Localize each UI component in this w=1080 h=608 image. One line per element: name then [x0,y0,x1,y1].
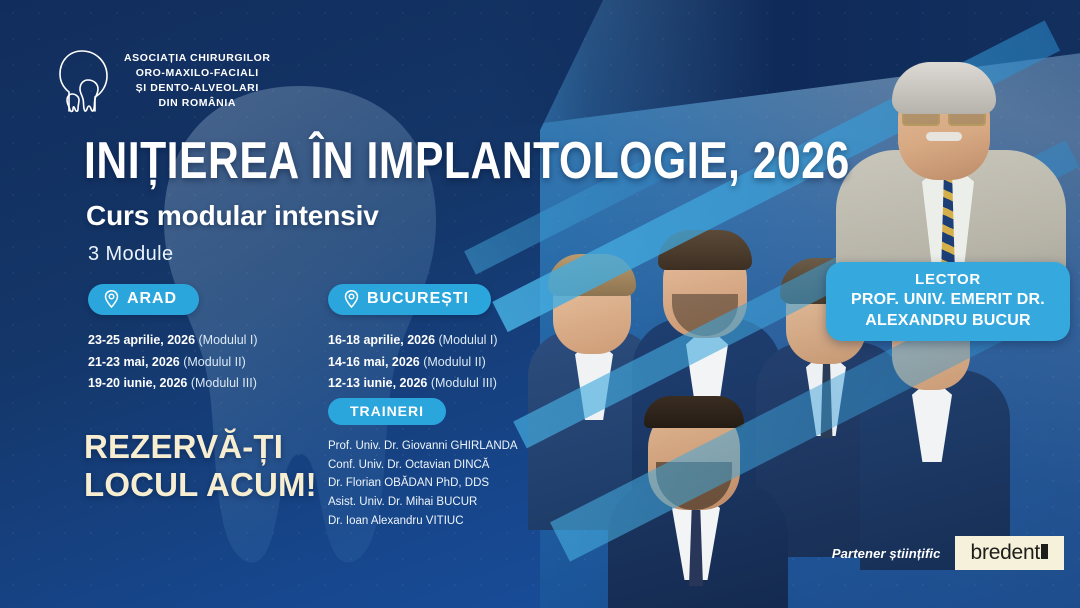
date-range: 14-16 mai, 2026 [328,355,420,369]
date-range: 21-23 mai, 2026 [88,355,180,369]
date-module: (Modulul I) [439,333,498,347]
trainers-list: Prof. Univ. Dr. Giovanni GHIRLANDA Conf.… [328,437,518,530]
date-row: 23-25 aprilie, 2026 (Modulul I) [88,330,258,352]
date-row: 14-16 mai, 2026 (Modulul II) [328,352,498,374]
date-row: 19-20 iunie, 2026 (Modulul III) [88,373,258,395]
date-row: 16-18 aprilie, 2026 (Modulul I) [328,330,498,352]
trainer-name: Conf. Univ. Dr. Octavian DINCĂ [328,456,518,475]
association-name-line: ORO-MAXILO-FACIALI [124,66,271,81]
date-row: 12-13 iunie, 2026 (Modulul III) [328,373,498,395]
location-block-bucuresti: BUCUREȘTI 16-18 aprilie, 2026 (Modulul I… [328,284,498,395]
location-pin-icon [104,290,119,308]
date-range: 16-18 aprilie, 2026 [328,333,435,347]
association-name: ASOCIAȚIA CHIRURGILOR ORO-MAXILO-FACIALI… [124,51,271,112]
date-module: (Modulul III) [191,376,257,390]
trainer-name: Dr. Ioan Alexandru VITIUC [328,512,518,531]
trainer-name: Asist. Univ. Dr. Mihai BUCUR [328,493,518,512]
bredent-wordmark: bredent [971,542,1040,563]
location-name: BUCUREȘTI [367,290,469,308]
date-range: 12-13 iunie, 2026 [328,376,427,390]
association-name-line: DIN ROMÂNIA [124,96,271,111]
date-range: 19-20 iunie, 2026 [88,376,187,390]
partner-label: Partener științific [832,546,941,561]
trainer-name: Dr. Florian OBĂDAN PhD, DDS [328,474,518,493]
cta-line-1: REZERVĂ-ȚI [84,428,317,466]
lecturer-badge: LECTOR PROF. UNIV. EMERIT DR. ALEXANDRU … [826,262,1070,341]
lecturer-name: ALEXANDRU BUCUR [836,311,1060,332]
association-logo: ASOCIAȚIA CHIRURGILOR ORO-MAXILO-FACIALI… [58,48,271,114]
association-name-line: ȘI DENTO-ALVEOLARI [124,81,271,96]
partner-block: Partener științific bredent [832,536,1064,570]
event-promo-banner: ASOCIAȚIA CHIRURGILOR ORO-MAXILO-FACIALI… [0,0,1080,608]
trainer-name: Prof. Univ. Dr. Giovanni GHIRLANDA [328,437,518,456]
lecturer-role: LECTOR [836,270,1060,290]
date-list-arad: 23-25 aprilie, 2026 (Modulul I) 21-23 ma… [88,330,258,395]
bredent-mark-icon [1041,544,1048,559]
event-title: INIȚIEREA ÎN IMPLANTOLOGIE, 2026 [84,132,850,191]
date-list-bucuresti: 16-18 aprilie, 2026 (Modulul I) 14-16 ma… [328,330,498,395]
date-range: 23-25 aprilie, 2026 [88,333,195,347]
association-name-line: ASOCIAȚIA CHIRURGILOR [124,51,271,66]
trainers-block: TRAINERI Prof. Univ. Dr. Giovanni GHIRLA… [328,398,518,530]
lecturer-title: PROF. UNIV. EMERIT DR. [836,290,1060,311]
trainers-badge: TRAINERI [328,398,446,425]
date-row: 21-23 mai, 2026 (Modulul II) [88,352,258,374]
date-module: (Modulul III) [431,376,497,390]
content-layer: ASOCIAȚIA CHIRURGILOR ORO-MAXILO-FACIALI… [0,0,1080,608]
date-module: (Modulul I) [199,333,258,347]
location-badge-bucuresti[interactable]: BUCUREȘTI [328,284,491,315]
date-module: (Modulul II) [423,355,486,369]
module-count: 3 Module [88,243,173,266]
head-tooth-icon [58,48,112,114]
event-subtitle: Curs modular intensiv [86,200,379,232]
location-block-arad: ARAD 23-25 aprilie, 2026 (Modulul I) 21-… [88,284,258,395]
location-pin-icon [344,290,359,308]
call-to-action[interactable]: REZERVĂ-ȚI LOCUL ACUM! [84,428,317,503]
location-name: ARAD [127,290,177,308]
date-module: (Modulul II) [183,355,246,369]
location-badge-arad[interactable]: ARAD [88,284,199,315]
cta-line-2: LOCUL ACUM! [84,466,317,504]
bredent-logo: bredent [955,536,1064,570]
